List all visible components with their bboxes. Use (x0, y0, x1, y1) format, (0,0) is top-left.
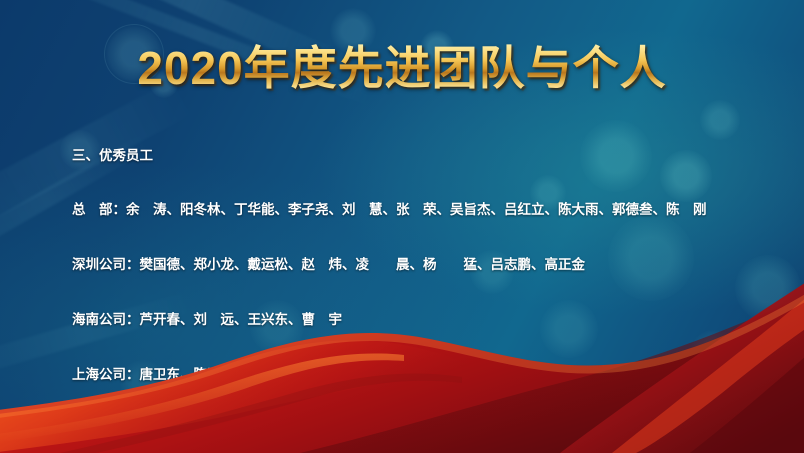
list-item: 三、优秀员工 (72, 147, 782, 165)
page-title: 2020年度先进团队与个人 (0, 42, 804, 95)
list-item: 总 部：余 涛、阳冬林、丁华能、李子尧、刘 慧、张 荣、吴旨杰、吕红立、陈大雨、… (72, 201, 782, 219)
list-item: 海南公司：芦开春、刘 远、王兴东、曹 宇 (72, 311, 782, 329)
employee-list: 三、优秀员工 总 部：余 涛、阳冬林、丁华能、李子尧、刘 慧、张 荣、吴旨杰、吕… (72, 110, 782, 453)
list-item: 上海公司：唐卫东、陈爱兵、束 震 (72, 366, 782, 384)
presentation-slide: 2020年度先进团队与个人 2020年度先进团队与个人 三、优秀员工 总 部：余… (0, 0, 804, 453)
list-item: 珠海公司：顾善华、庞一鸣、唐之宇 (72, 421, 782, 439)
list-item: 深圳公司：樊国德、郑小龙、戴运松、赵 炜、凌 晨、杨 猛、吕志鹏、高正金 (72, 256, 782, 274)
